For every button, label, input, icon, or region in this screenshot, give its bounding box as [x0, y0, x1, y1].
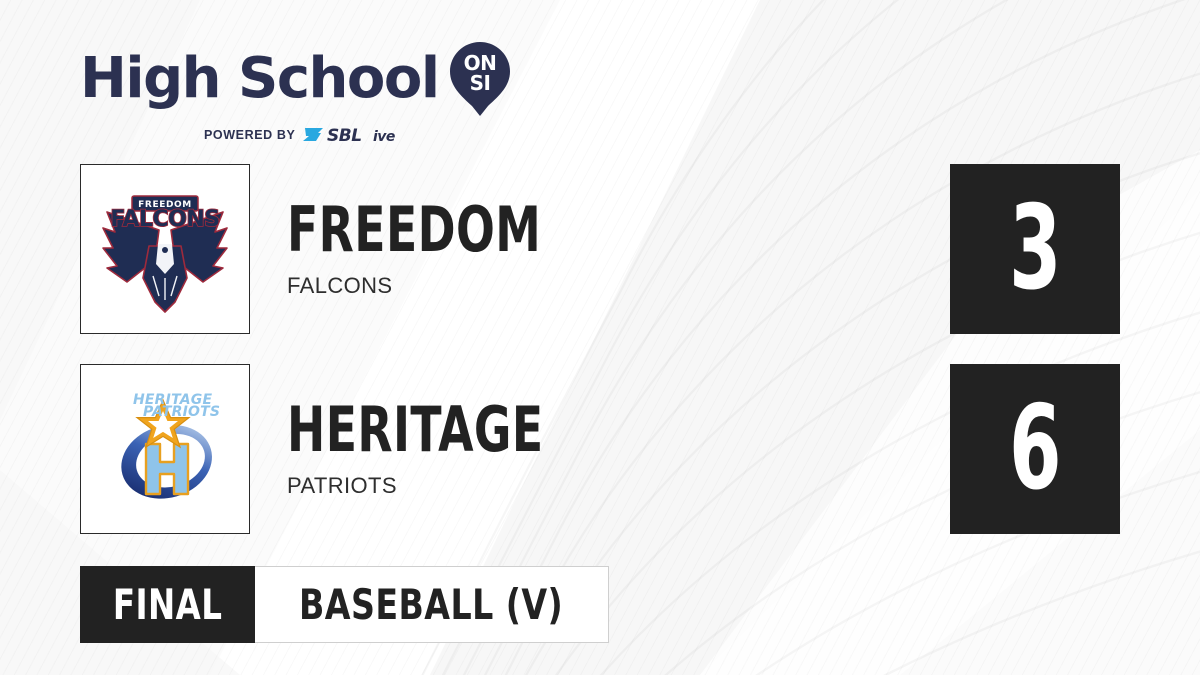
powered-by-label: POWERED BY [204, 128, 295, 142]
status-badge-label: FINAL [113, 584, 222, 626]
game-status-bar: FINAL BASEBALL (V) [80, 566, 609, 643]
sblive-logo: SBL ive [303, 124, 421, 146]
logo-wordmark: FALCONS [110, 207, 219, 232]
brand-title-row: High School ON SI [80, 40, 510, 118]
team-logo-box: HERITAGE PATRIOTS [80, 364, 250, 534]
sblive-wordmark-sbl: SBL [327, 126, 362, 146]
team-mascot: PATRIOTS [287, 473, 600, 499]
heritage-patriots-logo: HERITAGE PATRIOTS [90, 374, 240, 524]
sport-label: BASEBALL (V) [299, 584, 563, 626]
team-score: 3 [1009, 191, 1061, 307]
pin-label-si: SI [469, 71, 490, 95]
team-logo-box: FREEDOM FALCONS [80, 164, 250, 334]
team-name: HERITAGE [287, 399, 543, 461]
scoreboard-graphic: High School ON SI POWERED BY SBL ive [0, 0, 1200, 675]
team-mascot: FALCONS [287, 273, 597, 299]
brand-title: High School [80, 52, 439, 105]
team-info: FREEDOM FALCONS [287, 199, 597, 299]
logo-text-patriots: PATRIOTS [143, 404, 220, 420]
status-badge: FINAL [80, 566, 255, 643]
location-pin-icon: ON SI [449, 40, 511, 118]
team-name: FREEDOM [287, 199, 541, 261]
freedom-falcons-logo: FREEDOM FALCONS [90, 174, 240, 324]
brand-logo: High School ON SI POWERED BY SBL ive [80, 40, 510, 146]
powered-by-row: POWERED BY SBL ive [80, 124, 510, 146]
team-info: HERITAGE PATRIOTS [287, 399, 600, 499]
location-pin-svg: ON SI [449, 40, 511, 118]
team-score: 6 [1009, 391, 1061, 507]
sblive-wordmark-ive: ive [373, 129, 395, 145]
team-score-box: 3 [950, 164, 1120, 334]
team-score-box: 6 [950, 364, 1120, 534]
sport-label-container: BASEBALL (V) [255, 566, 608, 643]
sblive-logo-svg: SBL ive [303, 124, 421, 146]
